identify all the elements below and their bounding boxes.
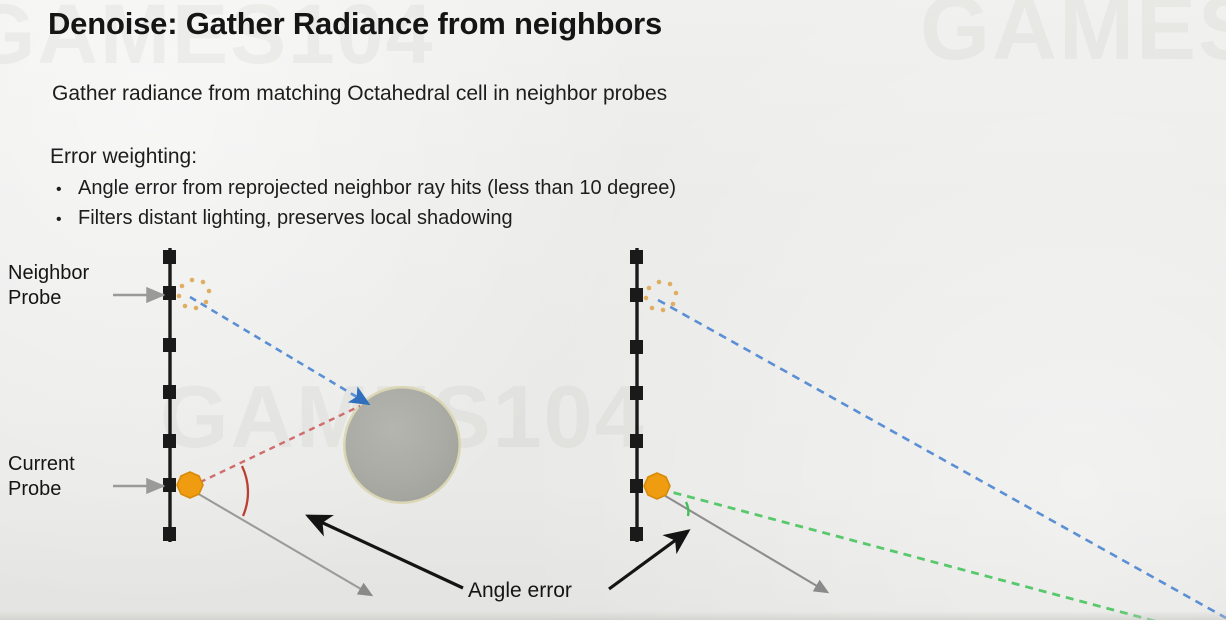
callout-arrow-left <box>308 516 463 588</box>
wall-tick <box>163 250 176 264</box>
wall-tick <box>630 434 643 448</box>
wall-tick <box>163 478 176 492</box>
wall-tick <box>630 527 643 541</box>
probe-current-right <box>644 473 670 499</box>
angle-error-arc-large <box>242 466 248 516</box>
ray-neighbor-probe-right <box>658 300 1226 618</box>
slide-canvas: GAMES104 GAMES104 GAMES104 Denoise: Gath… <box>0 0 1226 620</box>
ray-reprojected-neighbor-hit-left <box>190 406 360 487</box>
left-panel-wall <box>163 248 176 542</box>
probe-current-left <box>177 472 203 498</box>
ray-current-probe-left <box>190 489 366 592</box>
wall-tick <box>163 286 176 300</box>
ray-current-probe-right <box>657 491 822 589</box>
ray-neighbor-probe-left <box>190 297 362 400</box>
wall-tick <box>163 385 176 399</box>
right-panel-wall <box>630 248 643 542</box>
ray-matched-neighbor-hit-right <box>660 489 1226 620</box>
wall-tick <box>630 250 643 264</box>
callout-arrow-right <box>609 531 688 589</box>
wall-tick <box>163 338 176 352</box>
wall-tick <box>630 340 643 354</box>
wall-tick <box>630 288 643 302</box>
wall-tick <box>630 386 643 400</box>
wall-tick <box>630 479 643 493</box>
diagram-vector-layer <box>0 0 1226 620</box>
wall-tick <box>163 434 176 448</box>
wall-tick <box>163 527 176 541</box>
occluder-sphere <box>343 386 461 504</box>
